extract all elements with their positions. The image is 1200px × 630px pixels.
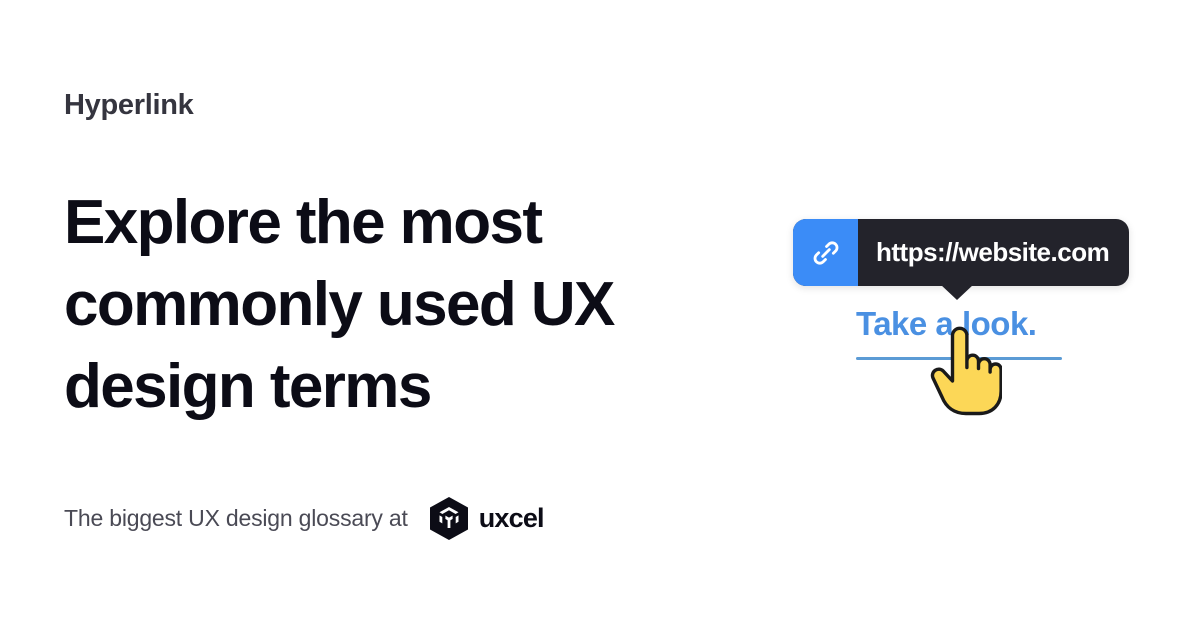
tooltip-icon-panel bbox=[793, 219, 858, 286]
content-column: Hyperlink Explore the most commonly used… bbox=[64, 0, 724, 630]
headline-line-1: Explore the most bbox=[64, 182, 704, 264]
uxcel-wordmark: uxcel bbox=[479, 505, 544, 532]
tooltip-tail bbox=[940, 284, 974, 300]
poster-canvas: Hyperlink Explore the most commonly used… bbox=[0, 0, 1200, 630]
eyebrow-term-label: Hyperlink bbox=[64, 90, 193, 122]
page-title: Explore the most commonly used UX design… bbox=[64, 182, 704, 427]
link-icon bbox=[810, 237, 842, 269]
hyperlink-illustration: https://website.com Take a look. bbox=[780, 195, 1160, 435]
tooltip-url-text: https://website.com bbox=[858, 219, 1129, 286]
headline-line-2: commonly used UX bbox=[64, 264, 704, 346]
headline-line-3: design terms bbox=[64, 346, 704, 428]
pointing-hand-cursor-icon bbox=[930, 325, 1002, 417]
url-tooltip: https://website.com bbox=[793, 219, 1129, 286]
uxcel-logo: uxcel bbox=[428, 496, 544, 541]
footer-attribution: The biggest UX design glossary at uxcel bbox=[64, 498, 544, 538]
uxcel-hexagon-icon bbox=[428, 496, 470, 541]
footer-tagline: The biggest UX design glossary at bbox=[64, 505, 408, 532]
